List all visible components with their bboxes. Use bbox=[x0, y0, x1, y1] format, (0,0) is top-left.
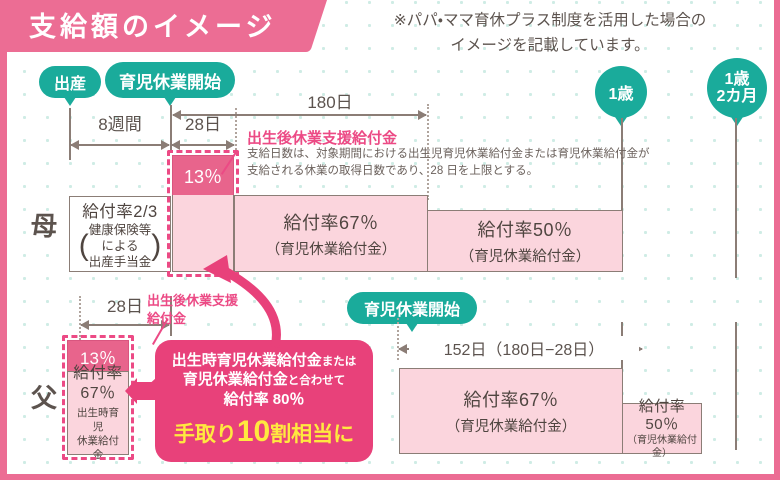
callout-line4-num: 10 bbox=[237, 415, 270, 448]
callout-line4-post: 割相当に bbox=[270, 423, 354, 446]
marker-age-one-two-months-line2: 2カ月 bbox=[717, 88, 758, 105]
bar-father-rate-50: 給付率 50％ （育児休業給付金） bbox=[622, 403, 702, 454]
measure-152d-label: 152日（180日−28日） bbox=[409, 336, 639, 360]
marker-birth-label: 出産 bbox=[54, 70, 86, 94]
annotation-title-mother: 出生後休業支援給付金 bbox=[247, 127, 397, 148]
marker-birth: 出産 bbox=[39, 66, 101, 98]
bar-father-rate-50-line2: 50％ bbox=[645, 416, 678, 434]
bar-mother-maternity-note-line2: による bbox=[89, 238, 152, 254]
bar-father-rate-67-small-line1: 給付率 bbox=[73, 364, 123, 384]
callout-box: 出生時育児休業給付金または 育児休業給付金と合わせて 給付率 80％ 手取り10… bbox=[155, 340, 373, 462]
bar-father-rate-50-sub: （育児休業給付金） bbox=[623, 434, 701, 460]
bar-mother-maternity-rate: 給付率2/3 bbox=[82, 198, 157, 222]
marker-leave-start-mother: 育児休業開始 bbox=[105, 62, 235, 98]
annotation-body-mother-line2: 支給される休業の取得日数であり、28 日を上限とする。 bbox=[247, 163, 677, 180]
annotation-body-mother-line1: 支給日数は、対象期間における出生児育児休業給付金または育児休業給付金が bbox=[247, 146, 677, 163]
header-note-line1: ※パパ・ママ育休プラス制度を活用した場合の bbox=[325, 8, 775, 33]
marker-leave-start-father-label: 育児休業開始 bbox=[364, 296, 460, 320]
bar-father-rate-67-sub: （育児休業給付金） bbox=[446, 415, 577, 436]
annotation-body-mother: 支給日数は、対象期間における出生児育児休業給付金または育児休業給付金が 支給され… bbox=[247, 146, 677, 180]
bar-mother-maternity-allowance: 給付率2/3 健康保険等 による 出産手当金 bbox=[69, 196, 171, 272]
marker-age-one-two-months: 1歳 2カ月 bbox=[707, 58, 767, 118]
bar-mother-maternity-note-line3: 出産手当金 bbox=[89, 254, 152, 270]
arrow-head-left-icon bbox=[398, 344, 407, 354]
marker-age-one-two-months-line1: 1歳 bbox=[725, 71, 750, 88]
bar-mother-maternity-note: 健康保険等 による 出産手当金 bbox=[80, 222, 161, 270]
header-note-line2: イメージを記載しています。 bbox=[325, 33, 775, 58]
marker-leave-start-father: 育児休業開始 bbox=[347, 292, 477, 324]
bar-mother-maternity-note-line1: 健康保険等 bbox=[89, 222, 152, 238]
callout-line4-pre: 手取り bbox=[174, 423, 237, 446]
bar-mother-rate-50-main: 給付率50％ bbox=[477, 216, 572, 242]
callout-line3: 給付率 80％ bbox=[224, 390, 305, 410]
page-title: 支給額のイメージ bbox=[29, 8, 329, 46]
callout-line2-main: 育児休業給付金 bbox=[183, 371, 288, 388]
callout-left-arrow-icon bbox=[125, 378, 161, 404]
bar-mother-support-13-label: 13％ bbox=[184, 163, 222, 189]
arrow-head-left-icon bbox=[171, 140, 180, 150]
marker-leave-start-mother-label: 育児休業開始 bbox=[119, 68, 221, 93]
bar-father-rate-67-small-note-line1: 出生時育児 bbox=[76, 406, 120, 434]
measure-28d-mother-label: 28日 bbox=[170, 110, 236, 135]
measure-8weeks-arrow bbox=[71, 144, 169, 146]
bar-father-rate-67-main: 給付率67％ bbox=[463, 386, 558, 412]
callout-line1: 出生時育児休業給付金または bbox=[172, 351, 357, 371]
arrow-head-left-icon bbox=[80, 320, 89, 330]
bar-mother-rate-67-main: 給付率67％ bbox=[283, 209, 378, 235]
measure-180d-label: 180日 bbox=[235, 88, 425, 113]
callout-line2-small: と合わせて bbox=[288, 375, 346, 387]
bar-father-rate-67-small-note: 出生時育児 休業給付金 bbox=[68, 406, 128, 462]
callout-line1-small: または bbox=[322, 356, 357, 368]
callout-line2: 育児休業給付金と合わせて bbox=[183, 370, 346, 390]
bar-father-rate-50-line1: 給付率 bbox=[639, 398, 686, 416]
bar-mother-rate-50: 給付率50％ （育児休業給付金） bbox=[427, 210, 623, 272]
guideline-age-one-two-months bbox=[735, 118, 737, 278]
callout-curved-arrow-icon bbox=[197, 255, 307, 350]
bar-father-rate-67-small-line2: 67％ bbox=[80, 384, 115, 404]
bar-father-rate-67-small: 給付率 67％ 出生時育児 休業給付金 bbox=[67, 371, 129, 455]
bar-father-rate-67: 給付率67％ （育児休業給付金） bbox=[399, 368, 623, 454]
callout-line1-main: 出生時育児休業給付金 bbox=[172, 352, 322, 369]
infographic-canvas: 支給額のイメージ ※パパ・ママ育休プラス制度を活用した場合の イメージを記載して… bbox=[0, 0, 780, 480]
measure-28d-mother-arrow bbox=[172, 144, 234, 146]
arrow-head-right-icon bbox=[161, 140, 170, 150]
marker-age-one: 1歳 bbox=[595, 66, 647, 118]
row-label-mother: 母 bbox=[31, 206, 57, 243]
arrow-head-right-icon bbox=[418, 110, 427, 120]
arrow-head-right-icon bbox=[226, 140, 235, 150]
marker-age-one-label: 1歳 bbox=[609, 80, 634, 104]
measure-8weeks-label: 8週間 bbox=[69, 110, 171, 135]
header-note: ※パパ・ママ育休プラス制度を活用した場合の イメージを記載しています。 bbox=[325, 8, 775, 58]
arrow-head-left-icon bbox=[70, 140, 79, 150]
bar-mother-support-13: 13％ bbox=[172, 155, 234, 196]
bar-mother-rate-50-sub: （育児休業給付金） bbox=[460, 245, 591, 266]
guideline-age-one-two-months-father bbox=[735, 322, 737, 450]
bar-father-rate-67-small-note-line2: 休業給付金 bbox=[76, 434, 120, 462]
row-label-father: 父 bbox=[31, 378, 57, 415]
callout-line4: 手取り10割相当に bbox=[174, 412, 354, 452]
